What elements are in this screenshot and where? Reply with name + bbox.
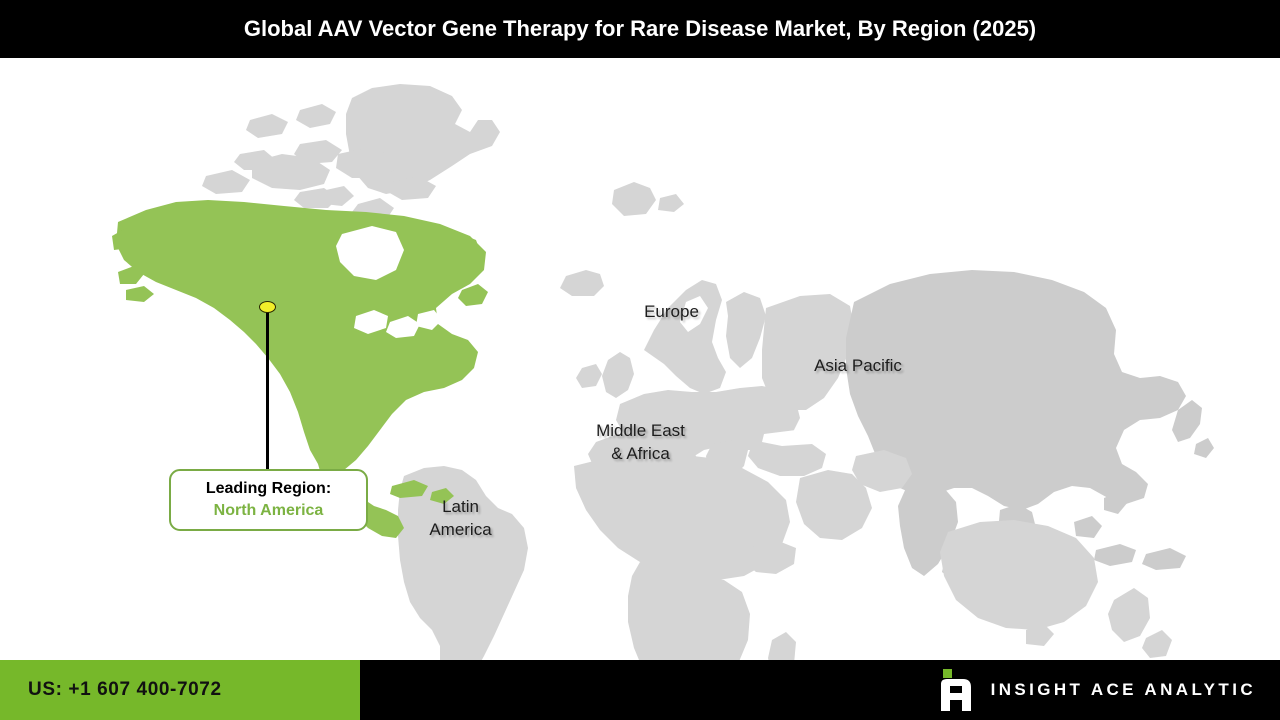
leading-region-callout: Leading Region: North America <box>169 469 368 531</box>
header-bar: Global AAV Vector Gene Therapy for Rare … <box>0 0 1280 58</box>
brand-wordmark: INSIGHT ACE ANALYTIC <box>991 680 1256 700</box>
world-map-container: Europe Asia Pacific Middle East & Africa… <box>0 58 1280 660</box>
insightace-logo-icon <box>939 669 973 711</box>
logo-a-glyph <box>939 678 973 711</box>
map-pin-marker <box>259 301 276 313</box>
footer-phone-number[interactable]: US: +1 607 400-7072 <box>28 679 222 701</box>
callout-leader-line <box>266 308 269 470</box>
callout-heading: Leading Region: <box>206 480 331 498</box>
footer-contact-band: US: +1 607 400-7072 <box>0 660 360 720</box>
logo-accent-square <box>943 669 952 678</box>
callout-value: North America <box>214 501 324 520</box>
page-title: Global AAV Vector Gene Therapy for Rare … <box>0 0 1280 58</box>
world-map-graphic <box>0 58 1280 660</box>
brand-lockup: INSIGHT ACE ANALYTIC <box>939 660 1256 720</box>
footer-bar: US: +1 607 400-7072 INSIGHT ACE ANALYTIC <box>0 660 1280 720</box>
